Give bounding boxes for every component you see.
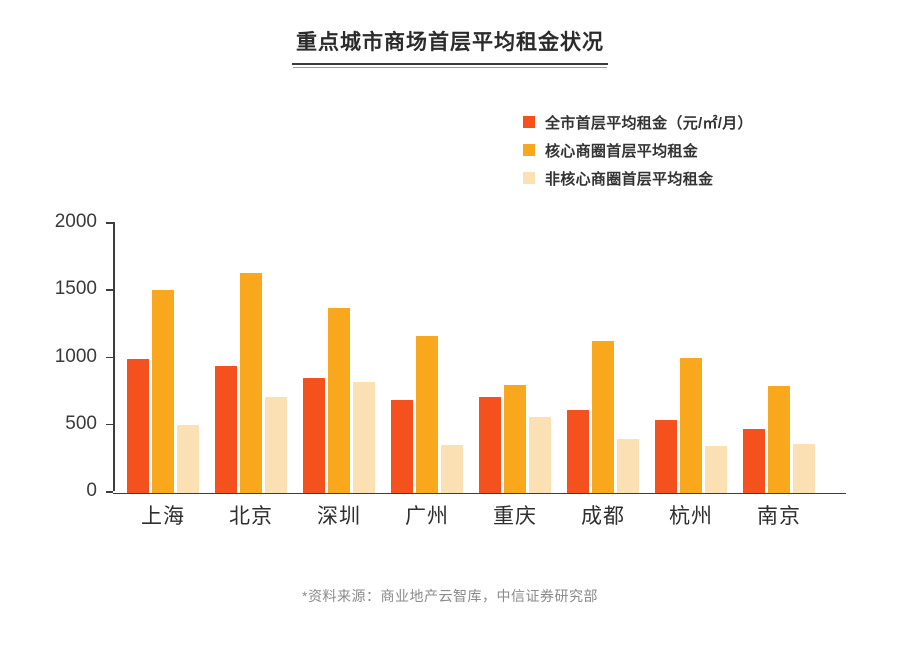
x-axis-tick-label: 上海 (119, 500, 207, 530)
chart-legend: 全市首层平均租金（元/㎡/月）核心商圈首层平均租金非核心商圈首层平均租金 (523, 112, 753, 196)
bar-group (127, 220, 199, 493)
y-axis-tick: 1500 (106, 289, 113, 291)
bar-group (479, 220, 551, 493)
bar-group (567, 220, 639, 493)
bar-group (391, 220, 463, 493)
bar-深圳-series-0[interactable] (303, 378, 325, 492)
x-axis-tick-label: 南京 (735, 500, 823, 530)
x-axis-tick-label: 广州 (383, 500, 471, 530)
bar-南京-series-2[interactable] (793, 444, 815, 492)
bar-杭州-series-1[interactable] (680, 358, 702, 493)
bar-上海-series-2[interactable] (177, 425, 199, 492)
legend-item-label: 全市首层平均租金（元/㎡/月） (545, 112, 753, 133)
y-axis-tick: 1000 (106, 357, 113, 359)
y-axis-tick: 0 (106, 491, 113, 493)
x-axis-tick-label: 成都 (559, 500, 647, 530)
page-title: 重点城市商场首层平均租金状况 (292, 30, 608, 65)
bar-广州-series-0[interactable] (391, 400, 413, 493)
bar-重庆-series-1[interactable] (504, 385, 526, 493)
bar-北京-series-2[interactable] (265, 397, 287, 492)
legend-swatch-icon (523, 144, 535, 156)
y-axis-tick: 2000 (106, 222, 113, 224)
x-axis-line (113, 493, 846, 495)
bar-成都-series-2[interactable] (617, 439, 639, 493)
y-axis-tick-label: 2000 (55, 211, 97, 233)
bar-重庆-series-0[interactable] (479, 397, 501, 492)
legend-swatch-icon (523, 172, 535, 184)
bar-重庆-series-2[interactable] (529, 417, 551, 493)
bar-上海-series-0[interactable] (127, 359, 149, 492)
y-axis-tick-label: 0 (86, 480, 97, 502)
chart-plot-area: 0500100015002000 上海北京深圳广州重庆成都杭州南京 (113, 218, 846, 494)
x-axis-tick-label: 杭州 (647, 500, 735, 530)
bar-深圳-series-1[interactable] (328, 308, 350, 492)
bar-杭州-series-2[interactable] (705, 446, 727, 492)
legend-item-label: 非核心商圈首层平均租金 (545, 168, 713, 189)
bar-广州-series-2[interactable] (441, 445, 463, 492)
bar-上海-series-1[interactable] (152, 290, 174, 492)
source-note: *资料来源：商业地产云智库，中信证券研究部 (0, 586, 900, 606)
bar-广州-series-1[interactable] (416, 336, 438, 493)
bar-group (215, 220, 287, 493)
chart-title-container: 重点城市商场首层平均租金状况 (0, 30, 900, 65)
legend-item[interactable]: 核心商圈首层平均租金 (523, 140, 753, 160)
y-axis-tick-label: 1500 (55, 278, 97, 300)
bar-group (303, 220, 375, 493)
bar-成都-series-0[interactable] (567, 410, 589, 492)
bar-group (743, 220, 815, 493)
legend-swatch-icon (523, 116, 535, 128)
legend-item-label: 核心商圈首层平均租金 (545, 140, 698, 161)
bar-南京-series-0[interactable] (743, 429, 765, 493)
legend-item[interactable]: 全市首层平均租金（元/㎡/月） (523, 112, 753, 132)
x-axis-tick-label: 重庆 (471, 500, 559, 530)
y-axis-tick-label: 1000 (55, 346, 97, 368)
y-axis-tick-label: 500 (65, 413, 97, 435)
bar-深圳-series-2[interactable] (353, 382, 375, 493)
bar-北京-series-1[interactable] (240, 273, 262, 492)
bar-杭州-series-0[interactable] (655, 420, 677, 493)
legend-item[interactable]: 非核心商圈首层平均租金 (523, 168, 753, 188)
bar-成都-series-1[interactable] (592, 341, 614, 492)
bar-group (655, 220, 727, 493)
bar-series-layer (113, 220, 846, 493)
bar-南京-series-1[interactable] (768, 386, 790, 492)
y-axis-tick: 500 (106, 424, 113, 426)
x-axis-tick-label: 深圳 (295, 500, 383, 530)
bar-北京-series-0[interactable] (215, 366, 237, 492)
x-axis-tick-label: 北京 (207, 500, 295, 530)
